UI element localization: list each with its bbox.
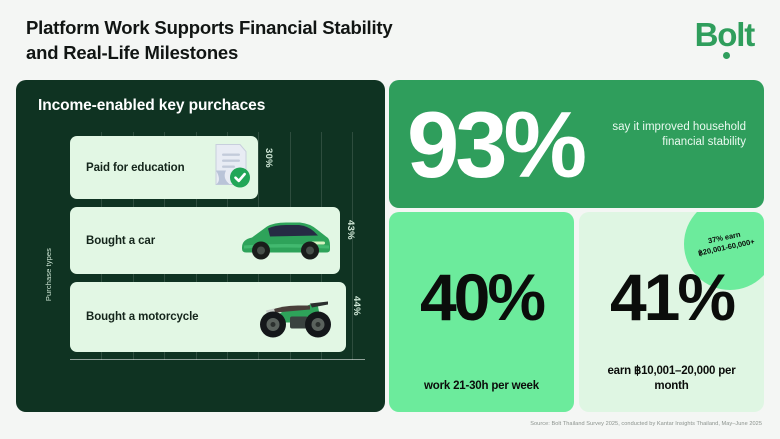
gridline bbox=[352, 132, 353, 360]
stat-caption-93: say it improved household financial stab… bbox=[596, 120, 746, 151]
bar-paid-for-education: Paid for education bbox=[70, 136, 258, 199]
stat-caption-40: work 21-30h per week bbox=[401, 379, 562, 394]
bar-label: Bought a car bbox=[86, 235, 155, 247]
y-axis-title: Purchase types bbox=[44, 248, 53, 301]
bar-label: Bought a motorcycle bbox=[86, 311, 198, 323]
x-axis-line bbox=[70, 359, 365, 360]
bar-bought-a-car: Bought a car bbox=[70, 207, 340, 274]
stat-value-93: 93% bbox=[407, 86, 583, 204]
plot-area: Paid for education 30% Bought a c bbox=[70, 132, 365, 360]
stat-card-41: 37% earn ฿20,001-60,000+ 41% earn ฿10,00… bbox=[579, 212, 764, 412]
car-icon bbox=[234, 215, 334, 266]
stat-value-41: 41% bbox=[579, 264, 764, 330]
stat-caption-41: earn ฿10,001–20,000 per month bbox=[591, 364, 752, 394]
bolt-logo-dot bbox=[723, 52, 730, 59]
bar-bought-a-motorcycle: Bought a motorcycle bbox=[70, 282, 346, 352]
stat-card-40: 40% work 21-30h per week bbox=[389, 212, 574, 412]
bar-value-education: 30% bbox=[263, 148, 274, 168]
stat-value-40: 40% bbox=[389, 264, 574, 330]
bar-value-motorcycle: 44% bbox=[351, 296, 362, 316]
badge-text: 37% earn ฿20,001-60,000+ bbox=[695, 227, 755, 259]
page-title: Platform Work Supports Financial Stabili… bbox=[26, 16, 426, 65]
source-note: Source: Bolt Thailand Survey 2025, condu… bbox=[530, 421, 762, 427]
infographic-page: Platform Work Supports Financial Stabili… bbox=[0, 0, 780, 439]
header: Platform Work Supports Financial Stabili… bbox=[0, 0, 780, 78]
bar-label: Paid for education bbox=[86, 162, 185, 174]
certificate-check-icon bbox=[210, 140, 252, 195]
bar-value-car: 43% bbox=[345, 220, 356, 240]
chart-title: Income-enabled key purchaces bbox=[38, 97, 265, 115]
chart-panel: Income-enabled key purchaces Purchase ty… bbox=[16, 80, 385, 412]
bolt-logo: Bolt bbox=[695, 18, 754, 51]
stat-card-93: 93% say it improved household financial … bbox=[389, 80, 764, 208]
motorcycle-icon bbox=[248, 289, 340, 346]
